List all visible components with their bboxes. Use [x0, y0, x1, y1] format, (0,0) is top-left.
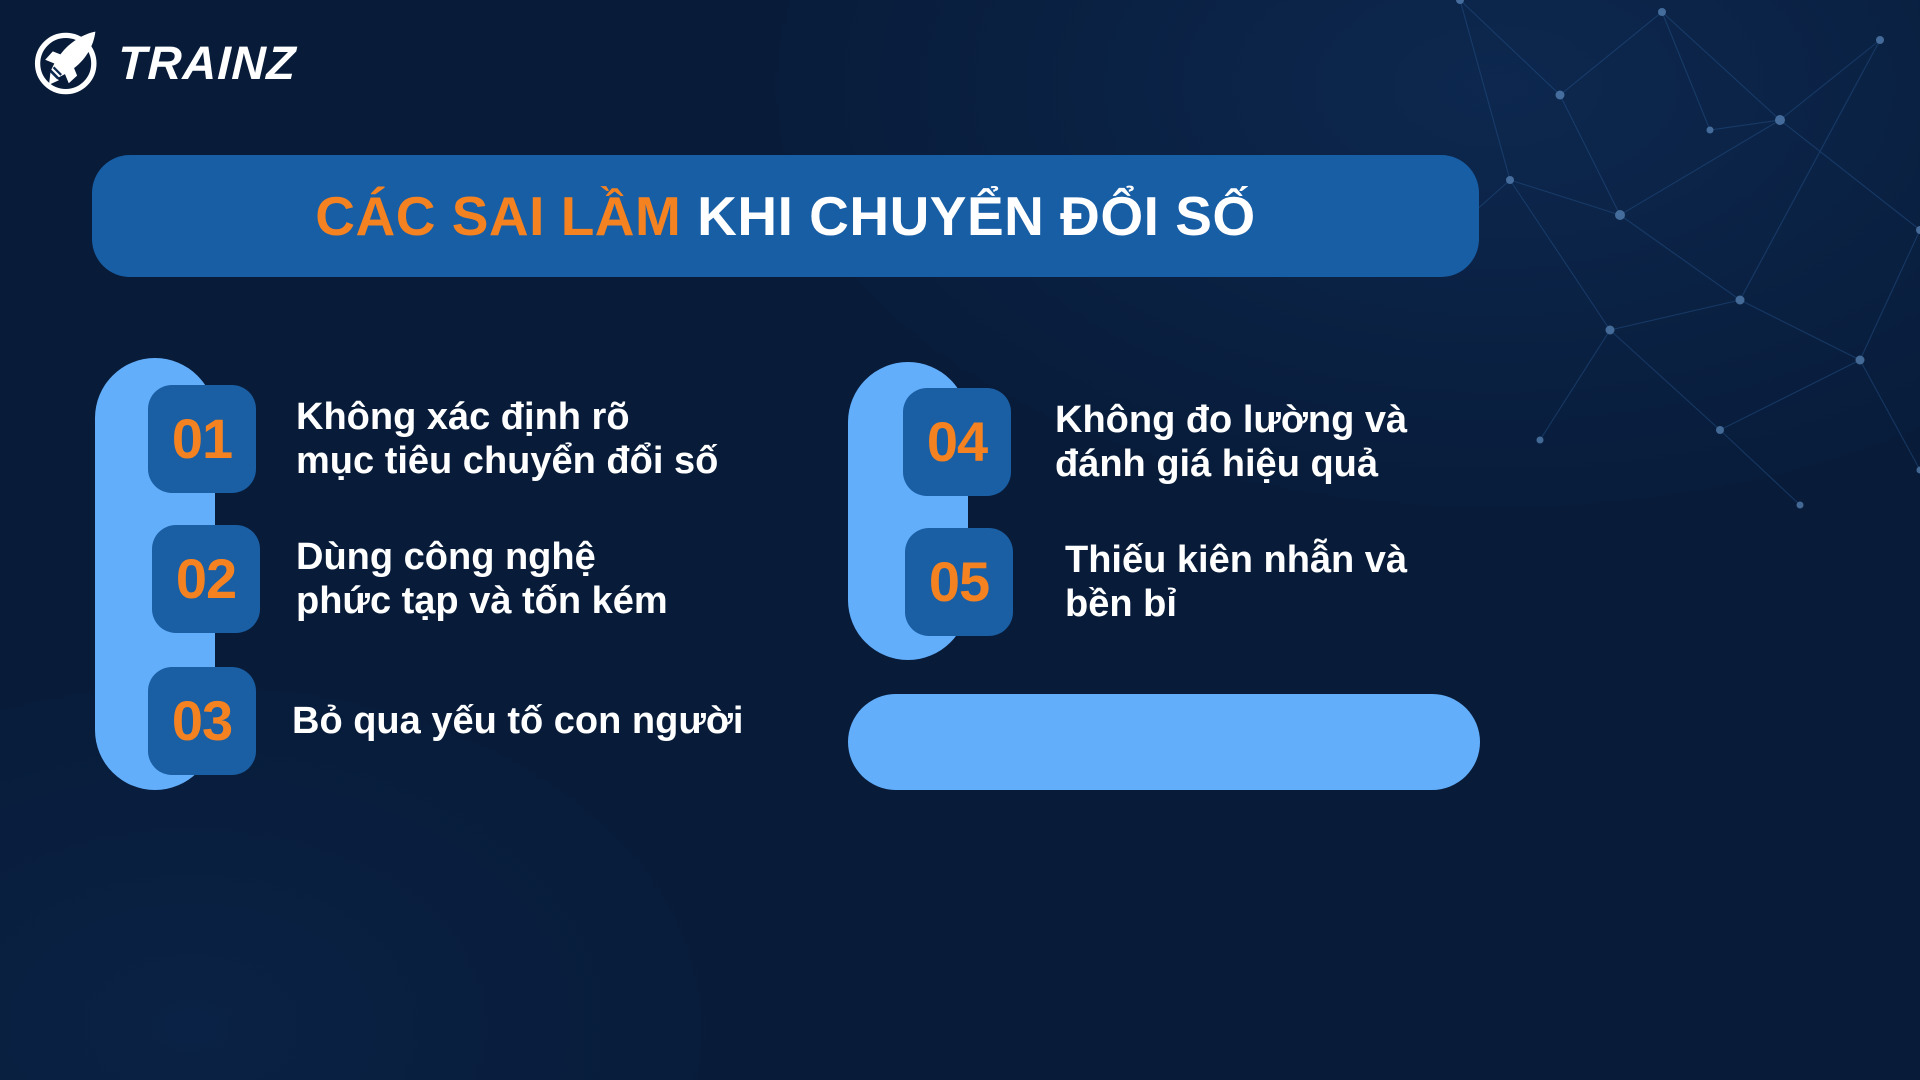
item-number-badge: 04	[903, 388, 1011, 496]
rocket-in-circle-icon	[30, 24, 106, 100]
list-item[interactable]: 02 Dùng công nghệ phức tạp và tốn kém	[152, 525, 668, 633]
item-label: Không xác định rõ mục tiêu chuyển đổi số	[296, 395, 718, 483]
item-number: 01	[172, 411, 232, 467]
item-number: 05	[929, 554, 989, 610]
brand-logo: TRAINZ	[30, 24, 296, 100]
page-title-rest: KHI CHUYỂN ĐỔI SỐ	[681, 185, 1255, 247]
list-item[interactable]: 04 Không đo lường và đánh giá hiệu quả	[903, 388, 1407, 496]
item-number-badge: 03	[148, 667, 256, 775]
item-label: Dùng công nghệ phức tạp và tốn kém	[296, 535, 668, 623]
item-label: Thiếu kiên nhẫn và bền bỉ	[1065, 538, 1407, 626]
title-banner: CÁC SAI LẦM KHI CHUYỂN ĐỔI SỐ	[92, 155, 1479, 277]
item-number-badge: 01	[148, 385, 256, 493]
item-number: 04	[927, 414, 987, 470]
item-number: 03	[172, 693, 232, 749]
page-title: CÁC SAI LẦM KHI CHUYỂN ĐỔI SỐ	[315, 184, 1255, 248]
item-label: Bỏ qua yếu tố con người	[292, 699, 743, 743]
list-item[interactable]: 03 Bỏ qua yếu tố con người	[148, 667, 743, 775]
item-number: 02	[176, 551, 236, 607]
empty-placeholder-bar	[848, 694, 1480, 790]
brand-wordmark: TRAINZ	[117, 39, 297, 86]
item-number-badge: 02	[152, 525, 260, 633]
page-title-accent: CÁC SAI LẦM	[315, 185, 681, 247]
list-item[interactable]: 01 Không xác định rõ mục tiêu chuyển đổi…	[148, 385, 718, 493]
item-number-badge: 05	[905, 528, 1013, 636]
list-item[interactable]: 05 Thiếu kiên nhẫn và bền bỉ	[905, 528, 1407, 636]
item-label: Không đo lường và đánh giá hiệu quả	[1055, 398, 1407, 486]
